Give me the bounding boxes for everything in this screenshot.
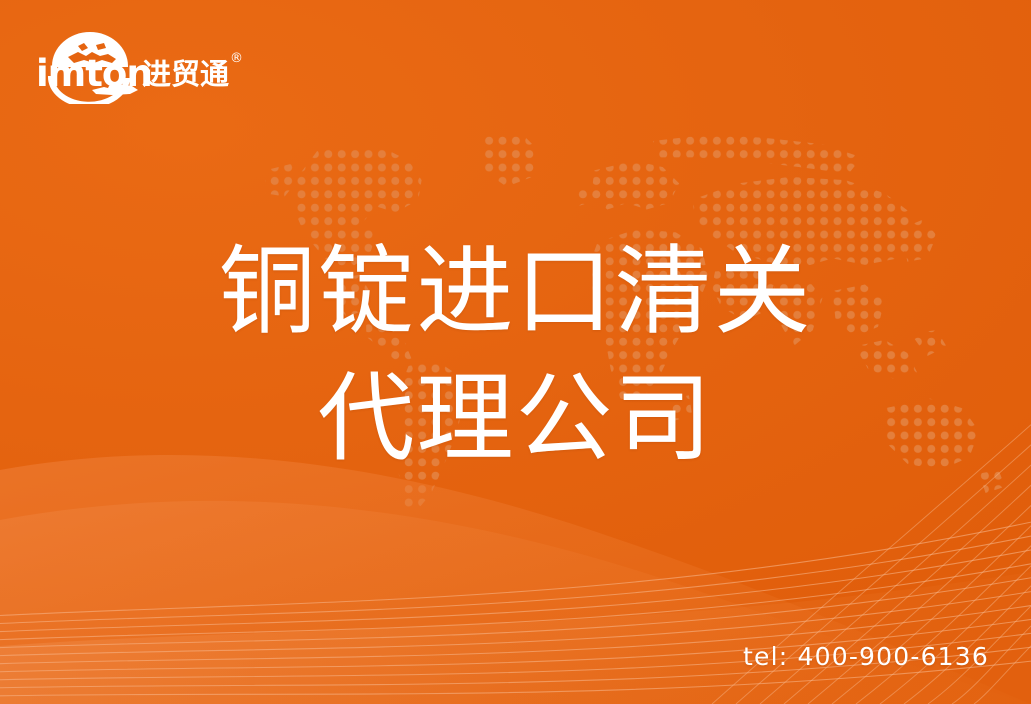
trademark-icon: ® bbox=[230, 51, 243, 66]
promo-banner: imton 进贸通 ® 铜锭进口清关 代理公司 tel: 400-900-613… bbox=[0, 0, 1031, 704]
headline-line-1: 铜锭进口清关 bbox=[0, 228, 1031, 355]
logo-wordmark: imton bbox=[36, 52, 152, 95]
contact-phone[interactable]: tel: 400-900-6136 bbox=[743, 642, 989, 671]
brand-logo[interactable]: imton 进贸通 ® bbox=[34, 26, 249, 104]
page-title: 铜锭进口清关 代理公司 bbox=[0, 228, 1031, 482]
headline-line-2: 代理公司 bbox=[0, 355, 1031, 482]
logo-chinese-name: 进贸通 bbox=[142, 57, 229, 91]
